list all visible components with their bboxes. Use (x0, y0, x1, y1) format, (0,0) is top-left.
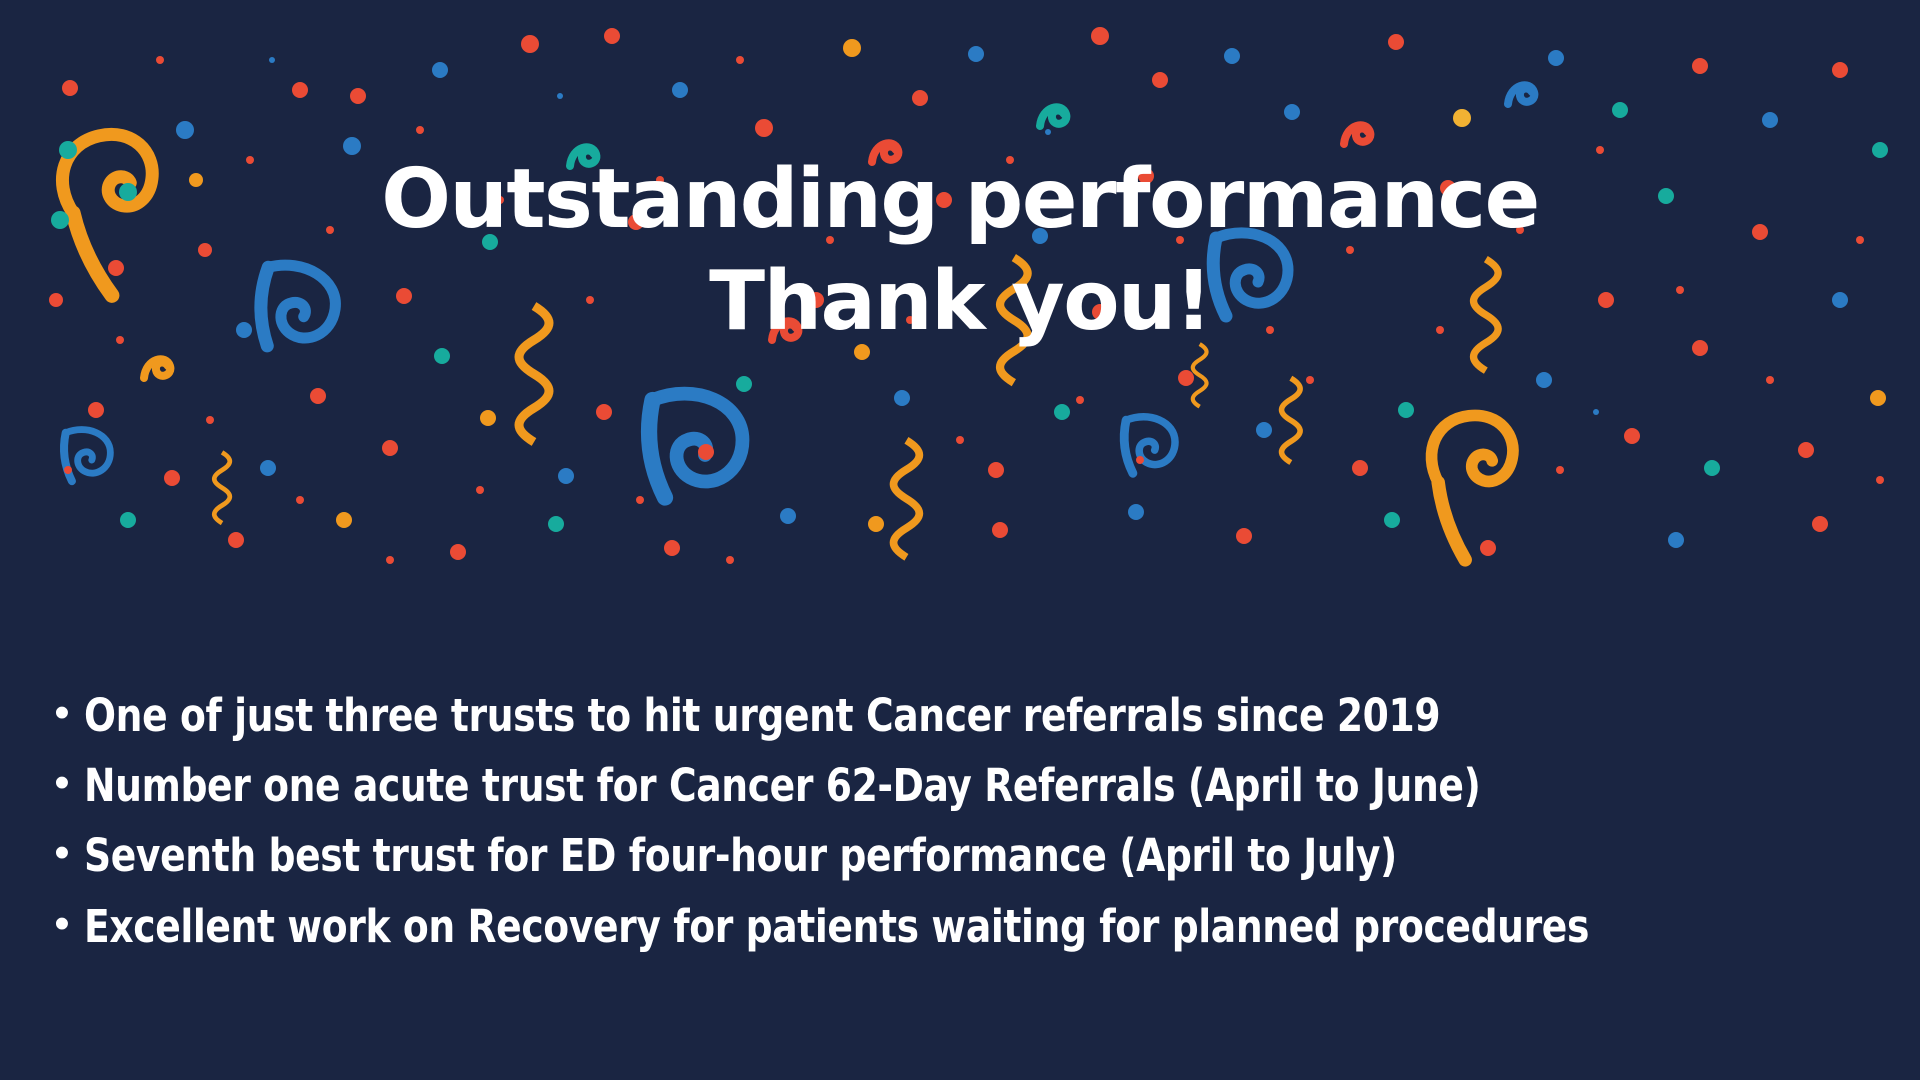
list-item: • One of just three trusts to hit urgent… (40, 690, 1880, 742)
list-item: • Seventh best trust for ED four-hour pe… (40, 830, 1880, 882)
achievements-list: • One of just three trusts to hit urgent… (40, 690, 1880, 971)
bullet-dot-icon: • (40, 831, 84, 875)
list-item-label: One of just three trusts to hit urgent C… (84, 690, 1440, 742)
list-item: • Excellent work on Recovery for patient… (40, 901, 1880, 953)
confetti-decoration (0, 0, 1920, 700)
list-item-label: Excellent work on Recovery for patients … (84, 901, 1589, 953)
list-item-label: Seventh best trust for ED four-hour perf… (84, 830, 1397, 882)
bullet-dot-icon: • (40, 902, 84, 946)
bullet-dot-icon: • (40, 691, 84, 735)
bullet-dot-icon: • (40, 761, 84, 805)
slide-canvas: Outstanding performance Thank you! • One… (0, 0, 1920, 1080)
list-item: • Number one acute trust for Cancer 62-D… (40, 760, 1880, 812)
list-item-label: Number one acute trust for Cancer 62-Day… (84, 760, 1480, 812)
